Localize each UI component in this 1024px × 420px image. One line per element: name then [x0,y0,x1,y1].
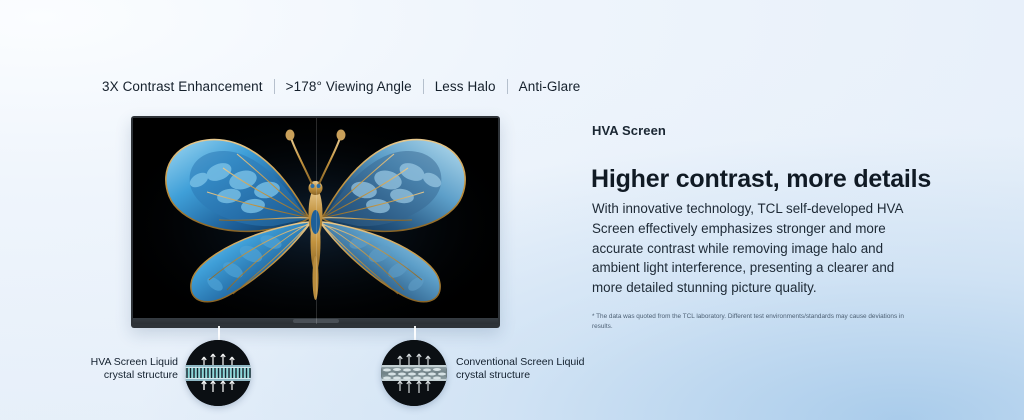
tv-screen [133,118,498,324]
comparison-split-line [316,118,317,324]
feature-divider [423,79,424,94]
panel-eyebrow: HVA Screen [592,123,666,138]
feature-divider [274,79,275,94]
panel-body-text: With innovative technology, TCL self-dev… [592,199,922,297]
feature-item-3: Anti-Glare [519,79,581,94]
feature-item-1: >178° Viewing Angle [286,79,412,94]
conventional-structure-diagram [381,340,447,406]
feature-item-2: Less Halo [435,79,496,94]
conventional-structure-caption: Conventional Screen Liquid crystal struc… [456,356,606,382]
feature-list: 3X Contrast Enhancement >178° Viewing An… [102,79,580,94]
tv-product-image [131,116,500,328]
hva-structure-caption: HVA Screen Liquid crystal structure [60,356,178,382]
hva-structure-diagram [185,340,251,406]
feature-divider [507,79,508,94]
panel-footnote: * The data was quoted from the TCL labor… [592,312,904,332]
promo-banner: 3X Contrast Enhancement >178° Viewing An… [0,0,1024,420]
page-title: Higher contrast, more details [591,165,931,194]
feature-item-0: 3X Contrast Enhancement [102,79,263,94]
